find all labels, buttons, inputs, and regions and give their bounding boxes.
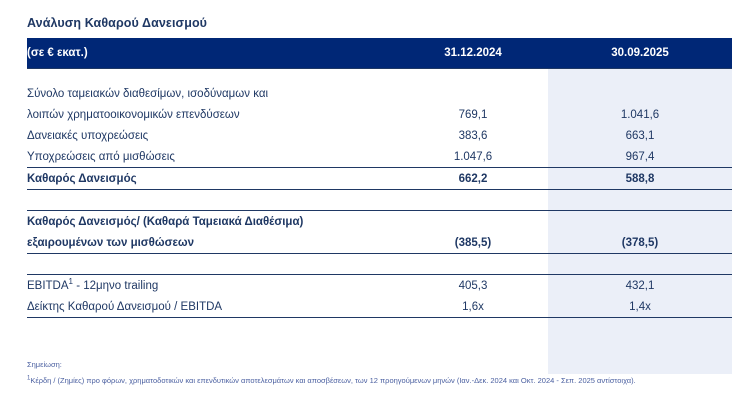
page-title: Ανάλυση Καθαρού Δανεισμού bbox=[27, 16, 207, 30]
row-value-col2: 588,8 bbox=[548, 168, 732, 190]
table-row-net-debt-ebitda-ratio: Δείκτης Καθαρού Δανεισμού / EBITDA 1,6x … bbox=[27, 296, 732, 318]
footnote-text: 1Κέρδη / (Ζημίες) προ φόρων, χρηματοδοτι… bbox=[27, 376, 737, 385]
row-value-col1: 662,2 bbox=[398, 168, 548, 190]
row-label: Δανειακές υποχρεώσεις bbox=[27, 125, 398, 146]
footnote-title: Σημείωση: bbox=[27, 360, 737, 369]
spacer-cell bbox=[27, 190, 398, 211]
spacer-cell bbox=[398, 69, 548, 84]
block1-top-rule bbox=[27, 69, 732, 84]
spacer-cell bbox=[27, 254, 398, 275]
net-debt-table-container: (σε € εκατ.) 31.12.2024 30.09.2025 Σύνολ… bbox=[27, 38, 732, 318]
row-value-col2: (378,5) bbox=[548, 232, 732, 254]
block-gap bbox=[27, 254, 732, 275]
table-row: εξαιρουμένων των μισθώσεων (385,5) (378,… bbox=[27, 232, 732, 254]
row-value-col2: 967,4 bbox=[548, 146, 732, 168]
footnote-block: Σημείωση: 1Κέρδη / (Ζημίες) προ φόρων, χ… bbox=[27, 360, 737, 385]
row-label: Σύνολο ταμειακών διαθεσίμων, ισοδύναμων … bbox=[27, 83, 398, 104]
spacer-cell bbox=[27, 69, 398, 84]
row-value-col2: 432,1 bbox=[548, 275, 732, 297]
row-value-col1: 405,3 bbox=[398, 275, 548, 297]
row-label: Καθαρός Δανεισμός/ (Καθαρά Ταμειακά Διαθ… bbox=[27, 211, 398, 233]
row-value-col1 bbox=[398, 211, 548, 233]
table-row: Σύνολο ταμειακών διαθεσίμων, ισοδύναμων … bbox=[27, 83, 732, 104]
table-row: Υποχρεώσεις από μισθώσεις 1.047,6 967,4 bbox=[27, 146, 732, 168]
spacer-cell bbox=[398, 190, 548, 211]
table-header-row: (σε € εκατ.) 31.12.2024 30.09.2025 bbox=[27, 38, 732, 69]
row-value-col1 bbox=[398, 83, 548, 104]
row-label: Υποχρεώσεις από μισθώσεις bbox=[27, 146, 398, 168]
row-label: Καθαρός Δανεισμός bbox=[27, 168, 398, 190]
row-value-col1: 1.047,6 bbox=[398, 146, 548, 168]
row-value-col2: 663,1 bbox=[548, 125, 732, 146]
table-row: Δανειακές υποχρεώσεις 383,6 663,1 bbox=[27, 125, 732, 146]
row-value-col2 bbox=[548, 211, 732, 233]
row-label: λοιπών χρηματοοικονομικών επενδύσεων bbox=[27, 104, 398, 125]
spacer-cell bbox=[548, 69, 732, 84]
row-value-col2: 1,4x bbox=[548, 296, 732, 318]
header-col-31-12-2024: 31.12.2024 bbox=[398, 38, 548, 69]
row-value-col2 bbox=[548, 83, 732, 104]
row-value-col1: 383,6 bbox=[398, 125, 548, 146]
table-row-ebitda: EBITDA1 - 12μηνο trailing 405,3 432,1 bbox=[27, 275, 732, 297]
row-value-col2: 1.041,6 bbox=[548, 104, 732, 125]
spacer-cell bbox=[548, 190, 732, 211]
footnote-body: Κέρδη / (Ζημίες) προ φόρων, χρηματοδοτικ… bbox=[30, 376, 635, 385]
row-label-tail: - 12μηνο trailing bbox=[73, 280, 158, 292]
header-units-label: (σε € εκατ.) bbox=[27, 38, 398, 69]
block-gap bbox=[27, 190, 732, 211]
row-label: Δείκτης Καθαρού Δανεισμού / EBITDA bbox=[27, 296, 398, 318]
table-row-total-net-debt: Καθαρός Δανεισμός 662,2 588,8 bbox=[27, 168, 732, 190]
row-label: EBITDA1 - 12μηνο trailing bbox=[27, 275, 398, 297]
row-value-col1: (385,5) bbox=[398, 232, 548, 254]
spacer-cell bbox=[548, 254, 732, 275]
net-debt-analysis-table: (σε € εκατ.) 31.12.2024 30.09.2025 Σύνολ… bbox=[27, 38, 732, 318]
spacer-cell bbox=[398, 254, 548, 275]
row-value-col1: 1,6x bbox=[398, 296, 548, 318]
table-row: Καθαρός Δανεισμός/ (Καθαρά Ταμειακά Διαθ… bbox=[27, 211, 732, 233]
row-label: εξαιρουμένων των μισθώσεων bbox=[27, 232, 398, 254]
row-label-text: EBITDA bbox=[27, 280, 69, 292]
header-col-30-09-2025: 30.09.2025 bbox=[548, 38, 732, 69]
row-value-col1: 769,1 bbox=[398, 104, 548, 125]
table-row: λοιπών χρηματοοικονομικών επενδύσεων 769… bbox=[27, 104, 732, 125]
